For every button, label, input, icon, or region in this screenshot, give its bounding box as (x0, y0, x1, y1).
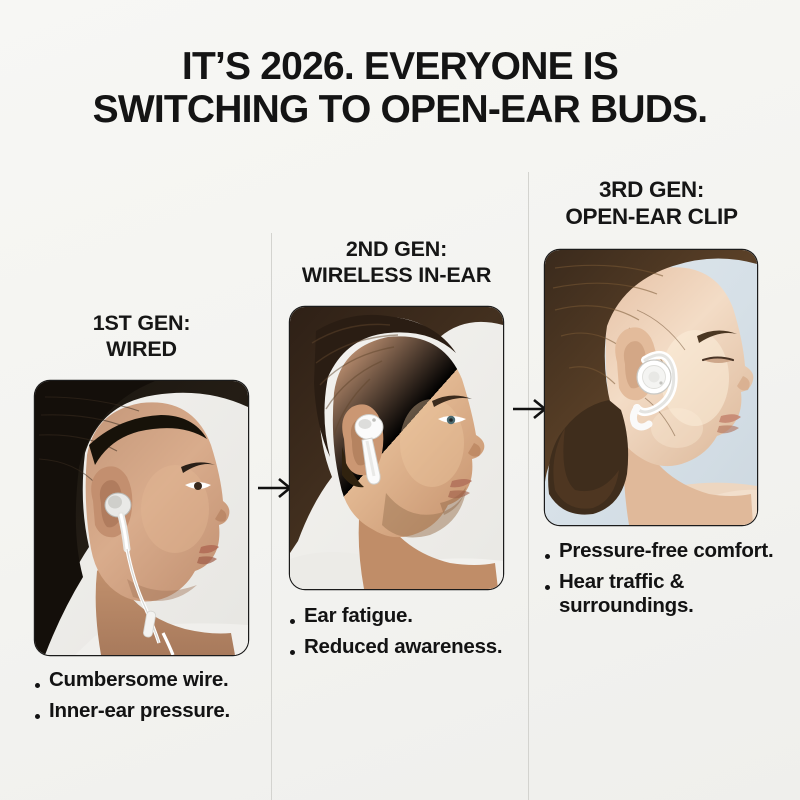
list-item: Reduced awareness. (290, 635, 525, 659)
panel-gen-2-bullets: Ear fatigue. Reduced awareness. (290, 604, 525, 666)
panel-gen-3-bullets: Pressure-free comfort. Hear traffic & su… (545, 539, 781, 624)
list-item: Ear fatigue. (290, 604, 525, 628)
list-item: Cumbersome wire. (35, 668, 265, 692)
panel-gen-2-bullet-2: Reduced awareness. (304, 635, 502, 659)
panel-gen-2-photo (290, 307, 503, 589)
list-item: Pressure-free comfort. (545, 539, 781, 563)
panel-gen-3-caption-line-1: 3RD GEN: (599, 177, 704, 202)
page-title: IT’S 2026. EVERYONE IS SWITCHING TO OPEN… (0, 46, 800, 131)
panel-gen-2-caption: 2ND GEN: WIRELESS IN-EAR (281, 236, 512, 288)
bullet-dot-icon (35, 714, 40, 719)
panel-gen-1-bullet-1: Cumbersome wire. (49, 668, 228, 692)
bullet-dot-icon (290, 650, 295, 655)
panel-gen-3-caption: 3RD GEN: OPEN-EAR CLIP (539, 176, 764, 231)
headline-line-2: SWITCHING TO OPEN-EAR BUDS. (0, 89, 800, 132)
panel-gen-1-photo (35, 381, 248, 655)
bullet-dot-icon (545, 585, 550, 590)
panel-gen-1-bullet-2: Inner-ear pressure. (49, 699, 230, 723)
panel-gen-3-photo (545, 250, 757, 525)
list-item: Hear traffic & surroundings. (545, 570, 781, 618)
bullet-dot-icon (290, 619, 295, 624)
panel-gen-1-caption-line-2: WIRED (35, 336, 248, 362)
panel-gen-2-caption-line-2: WIRELESS IN-EAR (281, 262, 512, 288)
headline-line-1: IT’S 2026. EVERYONE IS (182, 45, 618, 88)
column-divider-2 (528, 172, 529, 800)
bullet-dot-icon (35, 683, 40, 688)
infographic-canvas: IT’S 2026. EVERYONE IS SWITCHING TO OPEN… (0, 0, 800, 800)
list-item: Inner-ear pressure. (35, 699, 265, 723)
panel-gen-1-bullets: Cumbersome wire. Inner-ear pressure. (35, 668, 265, 730)
panel-gen-2-bullet-1: Ear fatigue. (304, 604, 413, 628)
panel-gen-3-bullet-1: Pressure-free comfort. (559, 539, 773, 563)
panel-gen-3-caption-line-2: OPEN-EAR CLIP (539, 203, 764, 230)
panel-gen-1-caption: 1ST GEN: WIRED (35, 310, 248, 362)
panel-gen-3-bullet-2: Hear traffic & surroundings. (559, 570, 694, 618)
column-divider-1 (271, 233, 272, 800)
panel-gen-1-caption-line-1: 1ST GEN: (93, 311, 191, 335)
panel-gen-2-caption-line-1: 2ND GEN: (346, 237, 447, 261)
bullet-dot-icon (545, 554, 550, 559)
